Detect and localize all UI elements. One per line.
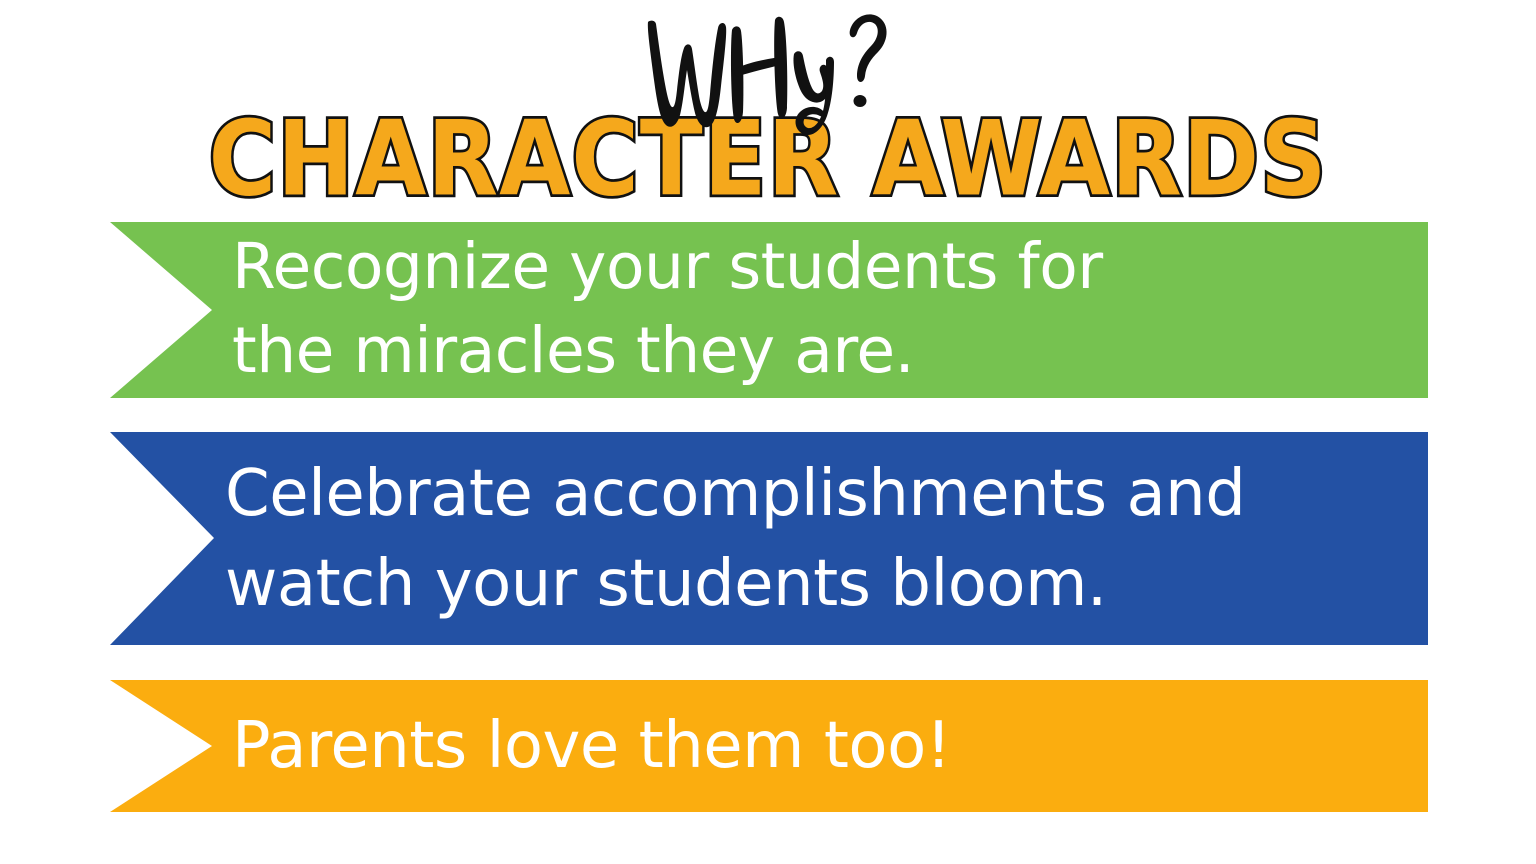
slide-canvas: CHARACTER AWARDS Recognize your students… [0, 0, 1536, 864]
banner-blue-text: Celebrate accomplishments and watch your… [225, 449, 1245, 629]
banner-green: Recognize your students for the miracles… [110, 222, 1428, 398]
banner-blue: Celebrate accomplishments and watch your… [110, 432, 1428, 645]
slide-title-container: CHARACTER AWARDS [0, 106, 1536, 204]
page-title: CHARACTER AWARDS [209, 106, 1328, 214]
banner-green-text: Recognize your students for the miracles… [232, 225, 1103, 393]
banner-orange: Parents love them too! [110, 680, 1428, 812]
banner-orange-text: Parents love them too! [232, 704, 951, 788]
slide-header: CHARACTER AWARDS [0, 0, 1536, 215]
